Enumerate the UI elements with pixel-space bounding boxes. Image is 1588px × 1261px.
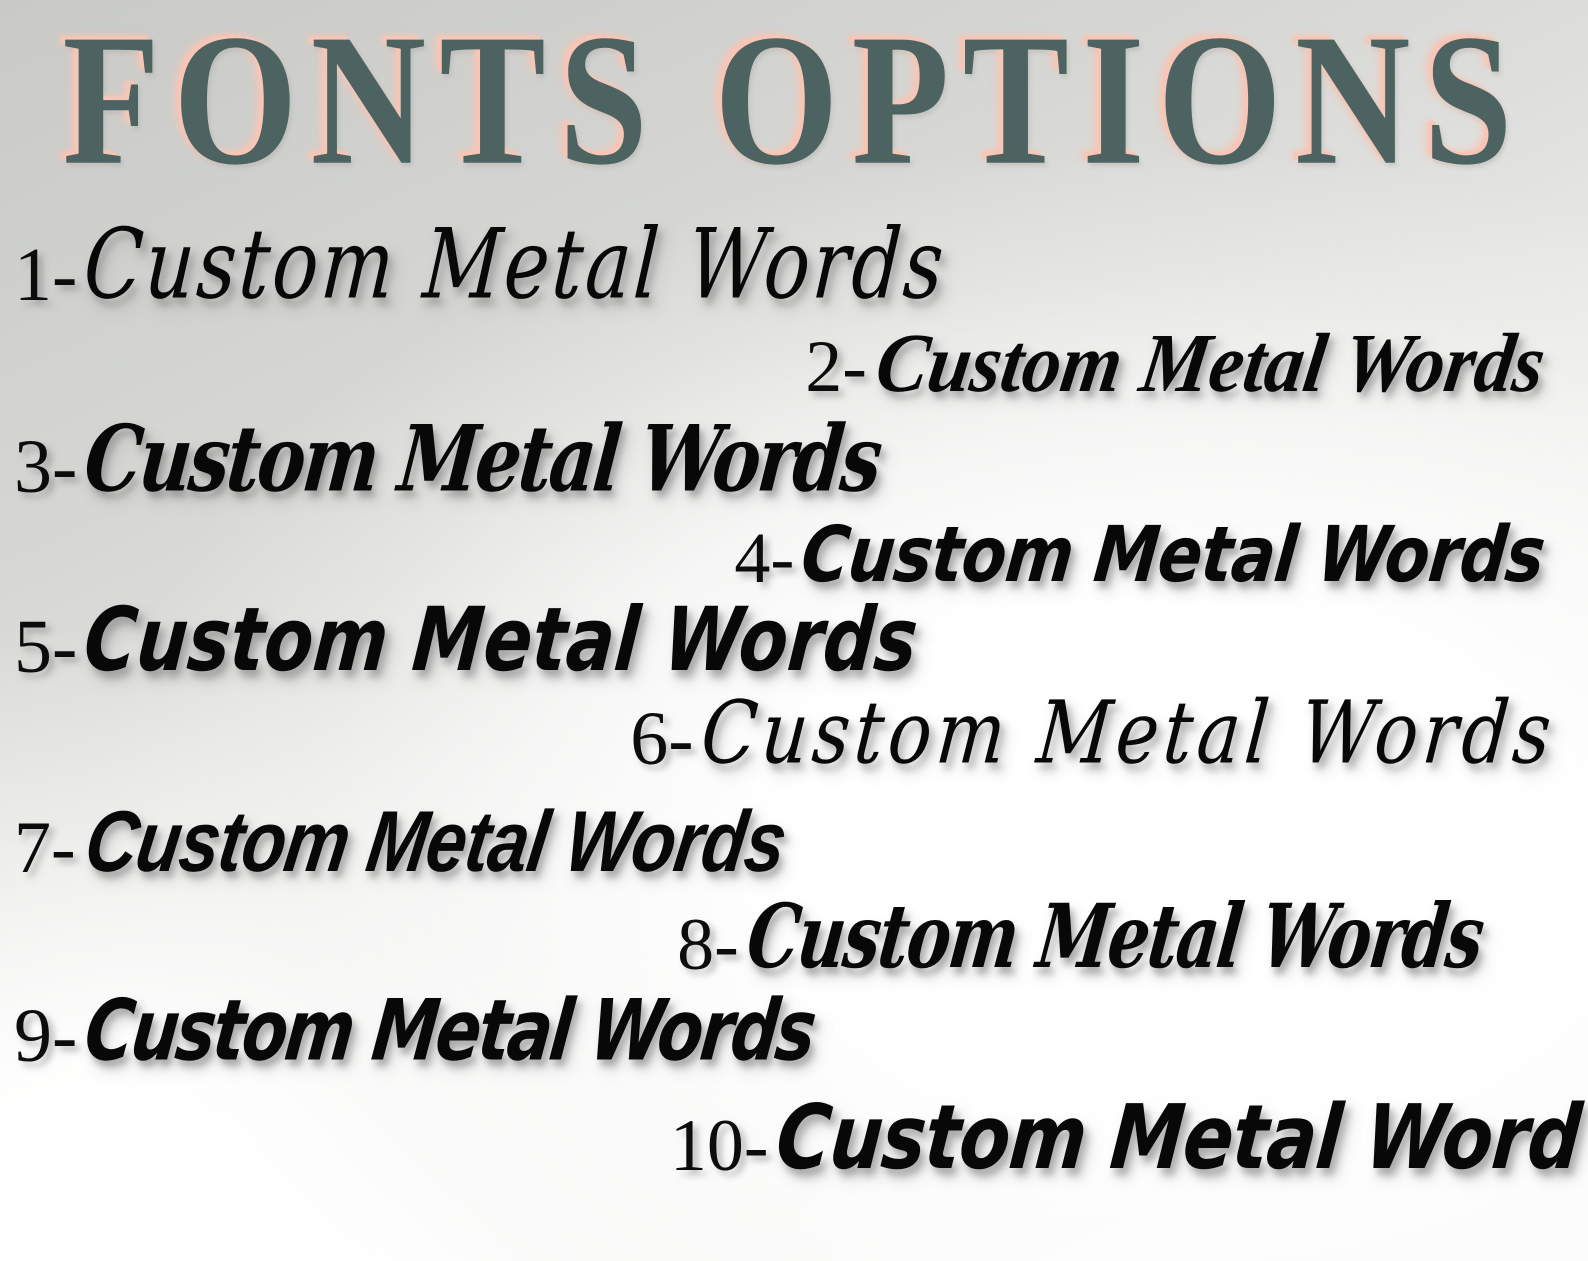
font-option-10[interactable]: 10- Custom Metal Word [670, 1105, 1588, 1183]
font-option-7-sample: Custom Metal Words [80, 799, 791, 885]
font-option-9-sample: Custom Metal Words [81, 989, 818, 1073]
font-option-4-number: 4- [734, 522, 794, 594]
font-option-4[interactable]: 4- Custom Metal Words [734, 522, 1588, 594]
font-option-2-number: 2- [805, 330, 867, 404]
font-option-2-sample: Custom Metal Words [871, 322, 1550, 406]
poster-title: FONTS OPTIONS [0, 6, 1588, 174]
font-option-3-number: 3- [14, 429, 77, 505]
font-option-6-sample: Custom Metal Words [698, 689, 1559, 776]
font-option-9-number: 9- [14, 998, 77, 1074]
font-option-7-number: 7- [14, 811, 76, 885]
font-option-1-sample: Custom Metal Words [81, 217, 949, 314]
font-option-8[interactable]: 8- Custom Metal Words [677, 905, 1588, 982]
font-option-10-sample: Custom Metal Word [773, 1094, 1584, 1183]
font-option-3[interactable]: 3- Custom Metal Words [14, 424, 963, 505]
font-option-1-number: 1- [14, 237, 77, 313]
font-option-5-sample: Custom Metal Words [81, 596, 921, 684]
font-option-1[interactable]: 1- Custom Metal Words [14, 232, 1008, 314]
font-option-2[interactable]: 2- Custom Metal Words [805, 322, 1588, 406]
font-option-4-sample: Custom Metal Words [798, 516, 1548, 593]
font-option-8-number: 8- [677, 908, 739, 982]
font-option-3-sample: Custom Metal Words [81, 413, 884, 504]
font-option-5[interactable]: 5- Custom Metal Words [14, 608, 967, 685]
font-option-9[interactable]: 9- Custom Metal Words [14, 998, 890, 1074]
font-option-8-sample: Custom Metal Words [743, 893, 1487, 981]
poster-title-text: FONTS OPTIONS [62, 6, 1525, 194]
fonts-options-poster: FONTS OPTIONS 1- Custom Metal Words 2- C… [0, 0, 1588, 1261]
font-option-6[interactable]: 6- Custom Metal Words [630, 700, 1588, 777]
font-option-7[interactable]: 7- Custom Metal Words [14, 805, 856, 885]
font-option-5-number: 5- [14, 609, 77, 685]
font-option-10-number: 10- [670, 1109, 769, 1183]
font-option-6-number: 6- [630, 701, 693, 777]
